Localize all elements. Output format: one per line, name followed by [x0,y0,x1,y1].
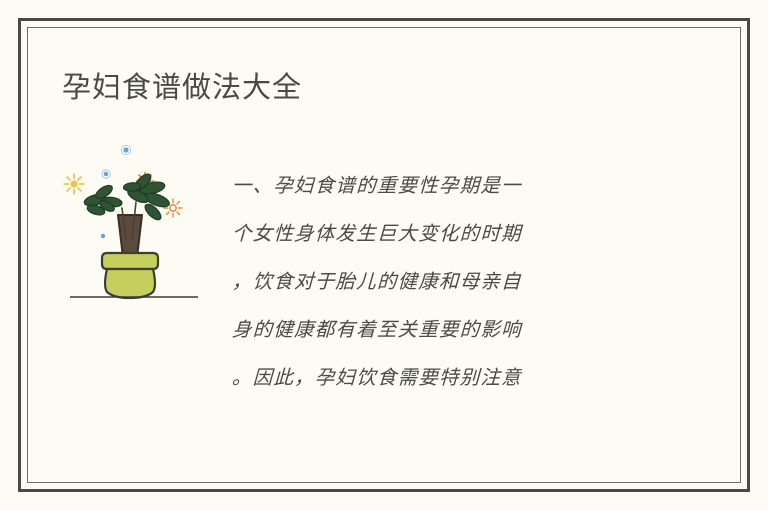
article-line: 身的健康都有着至关重要的影响 [231,306,671,354]
article-body: 一、孕妇食谱的重要性孕期是一 个女性身体发生巨大变化的时期 ，饮食对于胎儿的健康… [232,162,670,402]
leaf-cluster-left [83,183,122,217]
blue-dot-top [123,147,128,152]
yellow-star-left [64,174,84,194]
pot-rim [102,253,158,269]
article-line: 个女性身体发生巨大变化的时期 [231,210,671,258]
article-line: 。因此，孕妇饮食需要特别注意 [231,354,671,402]
blue-dot-mid [104,172,109,177]
page-title: 孕妇食谱做法大全 [62,68,302,108]
blue-dot-low [101,234,105,238]
pot-body [105,269,155,298]
article-card: 孕妇食谱做法大全 [0,0,768,510]
potted-plant-illustration [60,140,210,305]
article-line: 一、孕妇食谱的重要性孕期是一 [231,162,671,210]
article-line: ，饮食对于胎儿的健康和母亲自 [231,258,671,306]
